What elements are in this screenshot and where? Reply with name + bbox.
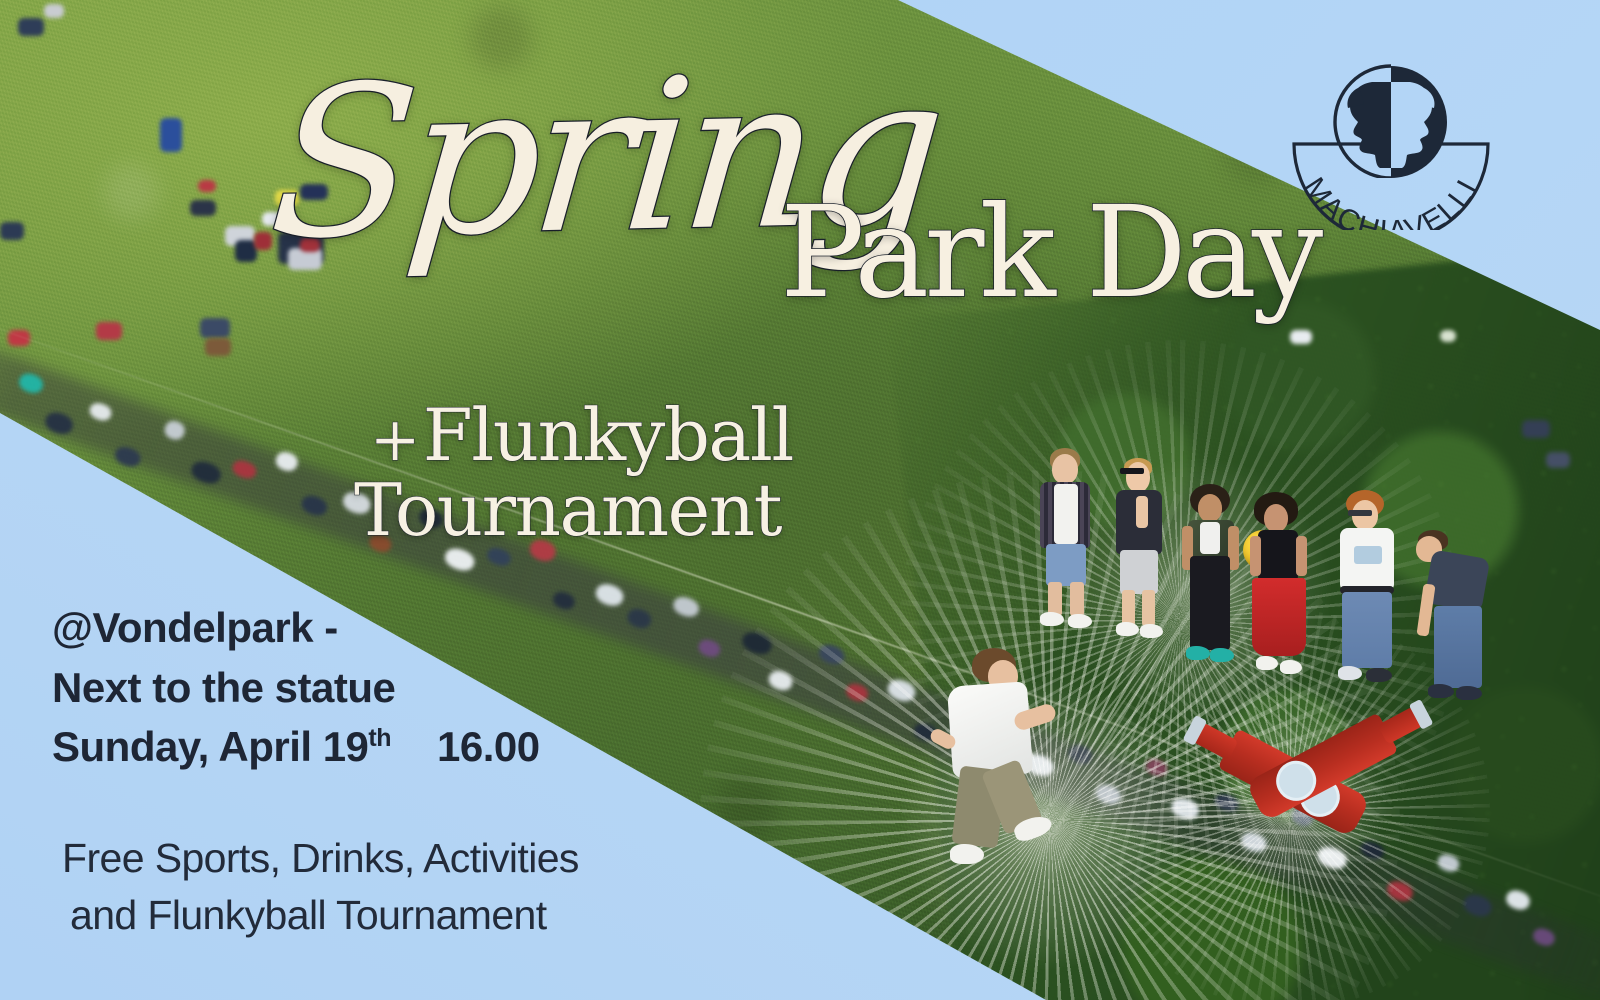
date-ordinal-suffix: th	[368, 724, 391, 752]
tagline: Free Sports, Drinks, Activities and Flun…	[62, 830, 579, 943]
location-line-1: @Vondelpark -	[52, 598, 540, 658]
machiavelli-logo[interactable]: MACHIAVELLI	[1272, 58, 1510, 230]
subtitle-flunkyball-tournament: +Flunkyball Tournament	[370, 398, 793, 548]
tagline-line-1: Free Sports, Drinks, Activities	[62, 835, 579, 881]
plus-sign: +	[370, 405, 419, 475]
location-line-2: Next to the statue	[52, 658, 540, 718]
event-date: Sunday, April 19	[52, 723, 368, 770]
title-park-day: Park Day	[780, 190, 1318, 316]
person-croptop	[1180, 484, 1242, 670]
person-red-skirt	[1246, 492, 1314, 680]
event-poster: Spring Park Day +Flunkyball Tournament @…	[0, 0, 1600, 1000]
event-details: @Vondelpark - Next to the statue Sunday,…	[52, 598, 540, 777]
person-white-tee	[1332, 490, 1404, 686]
person-bending	[1414, 528, 1498, 708]
person-sunglasses	[1108, 458, 1174, 642]
person-running-flunkyball	[930, 648, 1080, 888]
logo-head-circle	[1335, 66, 1447, 178]
tagline-line-2: and Flunkyball Tournament	[62, 887, 579, 944]
date-time-row: Sunday, April 19th16.00	[52, 717, 540, 777]
person-striped-shirt	[1030, 448, 1102, 632]
flunkyball-bottles	[1200, 700, 1400, 820]
subtitle-line-1: Flunkyball	[423, 393, 793, 477]
machiavelli-logo-mark: MACHIAVELLI	[1272, 58, 1510, 230]
logo-wordmark: MACHIAVELLI	[1297, 172, 1485, 230]
subtitle-line-2: Tournament	[354, 473, 793, 548]
event-time: 16.00	[437, 723, 540, 770]
